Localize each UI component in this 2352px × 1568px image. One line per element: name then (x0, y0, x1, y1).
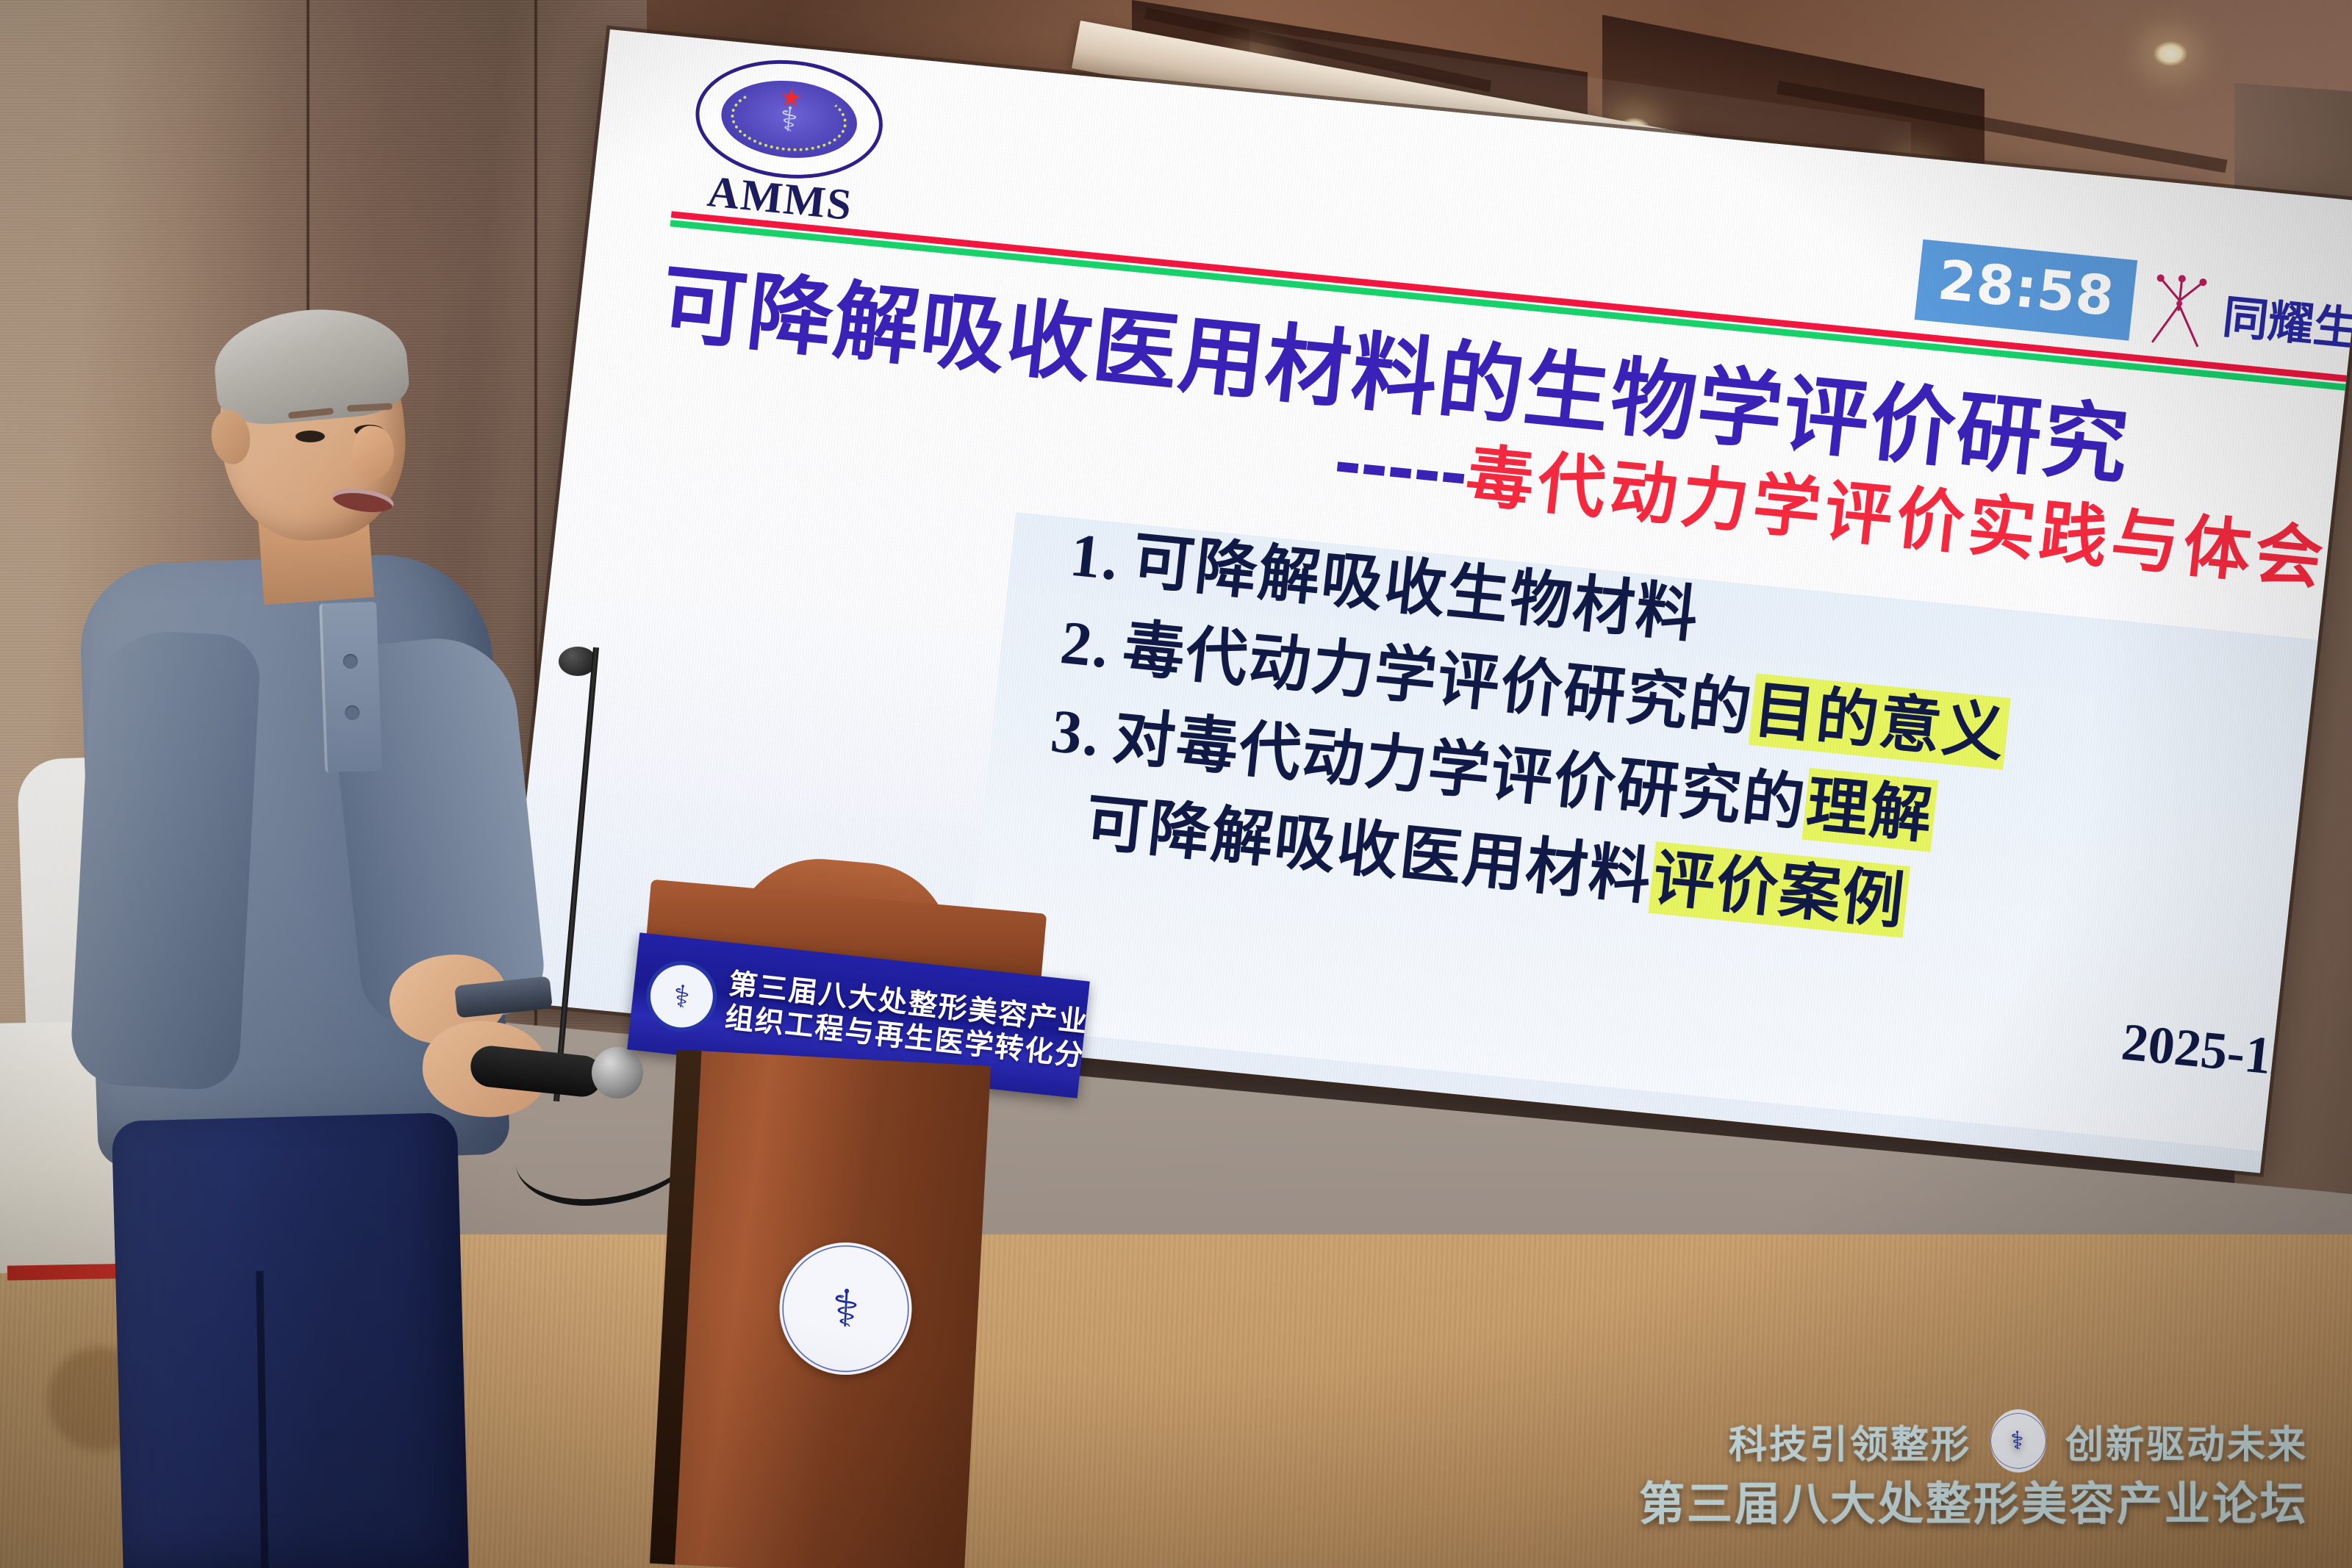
outline-highlight-3: 理解 (1801, 768, 1938, 852)
badachu-plastic-surgery-seal: ⚕ (643, 957, 721, 1035)
amms-logo: ★ ⚕ AMMS (678, 51, 894, 239)
speaker-placket (319, 602, 382, 773)
ceiling-downlight-4 (2154, 41, 2187, 66)
speaker-eye-left (295, 431, 325, 442)
podium: ⚕ 第三届八大处整形美容产业论坛 组织工程与再生医学转化分论坛 ⚕ (647, 874, 1044, 1568)
outline-number-1: 1. (1066, 521, 1123, 594)
watermark-slogan-right: 创新驱动未来 (2065, 1414, 2308, 1469)
watermark-seal-icon: ⚕ (1990, 1409, 2046, 1472)
badachu-emblem-icon: ⚕ (776, 1239, 915, 1378)
outline-highlight-4: 评价案例 (1648, 841, 1910, 938)
sponsor-name: 同耀生 (2220, 279, 2352, 359)
slide-subtitle-dash: ----- (1330, 423, 1471, 514)
amms-seal-inner: ★ ⚕ (717, 75, 861, 164)
watermark-slogan-left: 科技引领整形 (1729, 1414, 1971, 1469)
speaker-person (88, 316, 632, 1568)
placket-button-2 (345, 705, 360, 721)
microphone-grille (592, 1047, 643, 1098)
watermark-slogan: 科技引领整形 ⚕ 创新驱动未来 (1729, 1409, 2308, 1472)
speaker-trousers (112, 1112, 470, 1568)
speaker-arm-left (69, 627, 262, 1091)
placket-button-1 (343, 654, 358, 669)
podium-column: ⚕ (670, 1051, 991, 1568)
outline-highlight-2: 目的意义 (1749, 674, 2011, 770)
wreath-icon (728, 82, 850, 157)
outline-number-3: 3. (1047, 697, 1104, 769)
screenshot-root: ★ ⚕ AMMS 28:58 (0, 0, 2352, 1568)
tongyao-figure-icon (2143, 265, 2215, 350)
watermark-event-title: 第三届八大处整形美容产业论坛 (1639, 1467, 2308, 1533)
outline-number-2: 2. (1057, 608, 1114, 681)
